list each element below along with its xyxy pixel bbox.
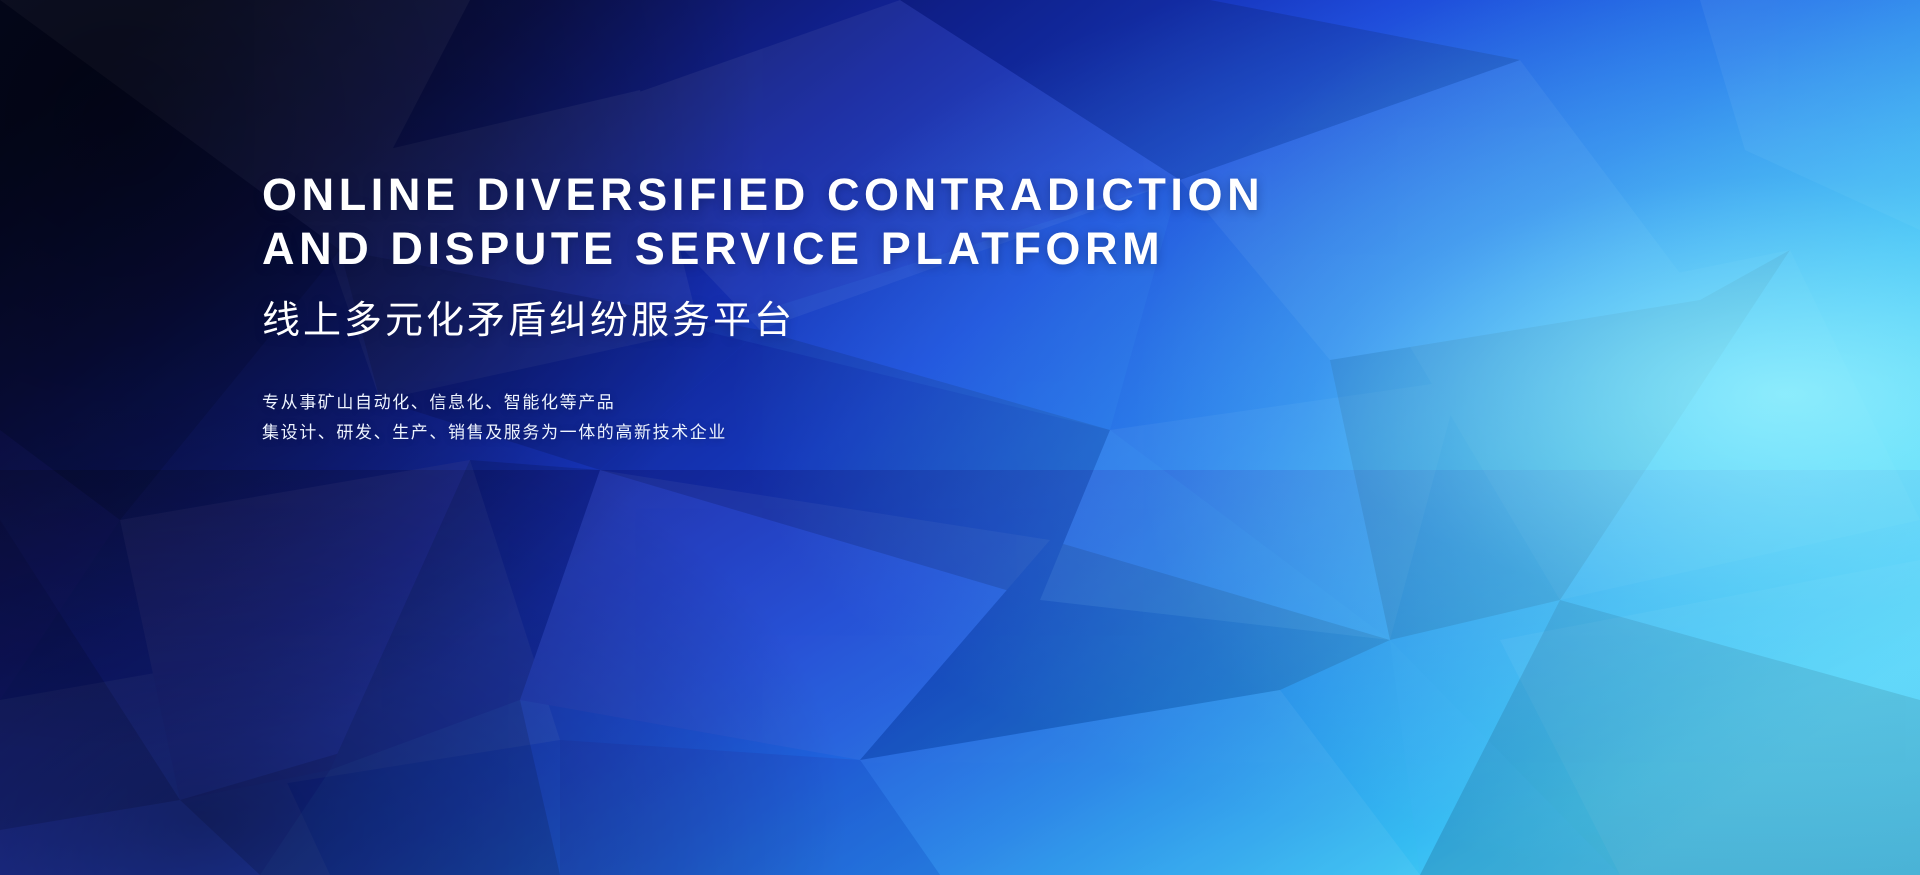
description-line-1: 专从事矿山自动化、信息化、智能化等产品: [262, 388, 1462, 418]
hero-text-block: ONLINE DIVERSIFIED CONTRADICTION AND DIS…: [262, 168, 1462, 448]
description-block: 专从事矿山自动化、信息化、智能化等产品 集设计、研发、生产、销售及服务为一体的高…: [262, 388, 1462, 448]
hero-banner: ONLINE DIVERSIFIED CONTRADICTION AND DIS…: [0, 0, 1920, 875]
headline-line-2: AND DISPUTE SERVICE PLATFORM: [262, 222, 1462, 276]
subtitle-chinese: 线上多元化矛盾纠纷服务平台: [262, 298, 1462, 344]
description-line-2: 集设计、研发、生产、销售及服务为一体的高新技术企业: [262, 418, 1462, 448]
headline-line-1: ONLINE DIVERSIFIED CONTRADICTION: [262, 168, 1462, 222]
